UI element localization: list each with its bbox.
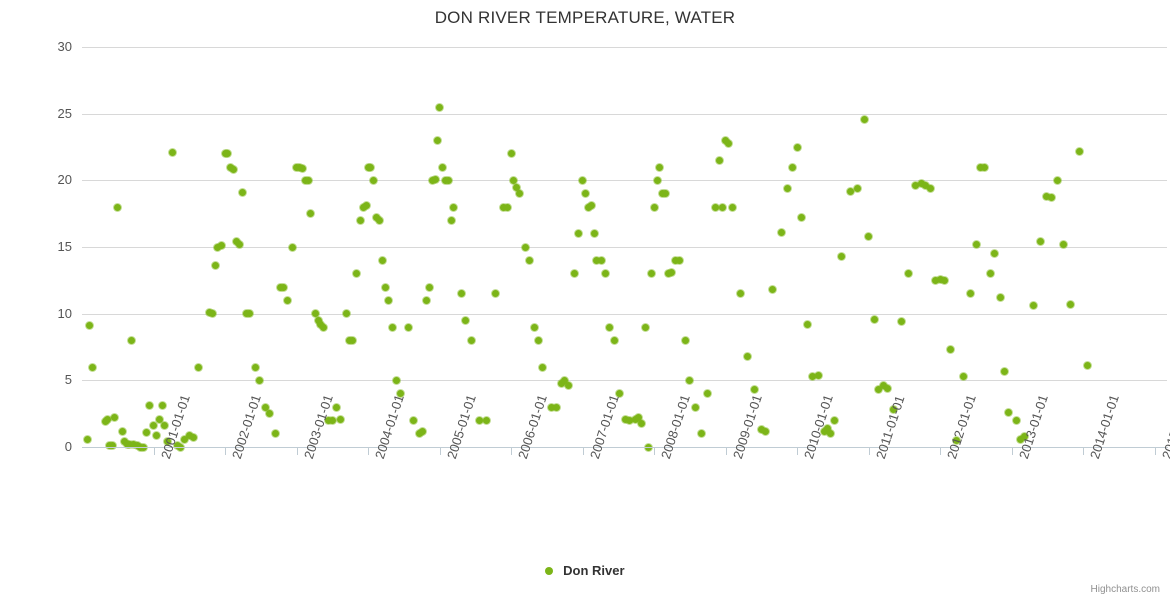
data-point[interactable]	[692, 404, 699, 411]
chart-legend: Don River	[0, 562, 1170, 578]
data-point[interactable]	[299, 165, 306, 172]
data-point[interactable]	[682, 337, 689, 344]
data-point[interactable]	[218, 242, 225, 249]
data-point[interactable]	[510, 177, 517, 184]
y-tick-label-10: 10	[32, 306, 72, 321]
data-point[interactable]	[794, 144, 801, 151]
data-point[interactable]	[804, 321, 811, 328]
data-point[interactable]	[239, 189, 246, 196]
data-point[interactable]	[405, 324, 412, 331]
data-point[interactable]	[987, 270, 994, 277]
data-point[interactable]	[651, 204, 658, 211]
data-point[interactable]	[827, 430, 834, 437]
y-tick-label-15: 15	[32, 239, 72, 254]
data-point[interactable]	[450, 204, 457, 211]
data-point[interactable]	[535, 337, 542, 344]
data-point[interactable]	[284, 297, 291, 304]
data-point[interactable]	[522, 244, 529, 251]
data-point[interactable]	[150, 422, 157, 429]
gridline-y-20	[82, 180, 1167, 181]
data-point[interactable]	[1060, 241, 1067, 248]
data-point[interactable]	[654, 177, 661, 184]
data-point[interactable]	[861, 116, 868, 123]
data-point[interactable]	[905, 270, 912, 277]
highcharts-container: DON RIVER TEMPERATURE, WATER Measurement…	[0, 0, 1170, 600]
data-point[interactable]	[531, 324, 538, 331]
x-tick-2014-01-01	[1083, 448, 1084, 455]
data-point[interactable]	[1076, 148, 1083, 155]
data-point[interactable]	[419, 428, 426, 435]
data-point[interactable]	[252, 364, 259, 371]
data-point[interactable]	[884, 385, 891, 392]
data-point[interactable]	[656, 164, 663, 171]
data-point[interactable]	[143, 429, 150, 436]
data-point[interactable]	[565, 382, 572, 389]
data-point[interactable]	[1005, 409, 1012, 416]
data-point[interactable]	[169, 149, 176, 156]
data-point[interactable]	[389, 324, 396, 331]
data-point[interactable]	[751, 386, 758, 393]
data-point[interactable]	[784, 185, 791, 192]
data-point[interactable]	[662, 190, 669, 197]
gridline-y-30	[82, 47, 1167, 48]
gridline-y-25	[82, 114, 1167, 115]
data-point[interactable]	[642, 324, 649, 331]
gridline-y-15	[82, 247, 1167, 248]
data-point[interactable]	[333, 404, 340, 411]
data-point[interactable]	[539, 364, 546, 371]
data-point[interactable]	[104, 416, 111, 423]
y-tick-label-25: 25	[32, 106, 72, 121]
data-point[interactable]	[86, 322, 93, 329]
data-point[interactable]	[704, 390, 711, 397]
x-tick-2008-01-01	[654, 448, 655, 455]
data-point[interactable]	[385, 297, 392, 304]
data-point[interactable]	[591, 230, 598, 237]
data-point[interactable]	[436, 104, 443, 111]
data-point[interactable]	[762, 428, 769, 435]
data-point[interactable]	[769, 286, 776, 293]
data-point[interactable]	[156, 416, 163, 423]
y-tick-label-0: 0	[32, 439, 72, 454]
data-point[interactable]	[991, 250, 998, 257]
x-tick-2001-01-01	[154, 448, 155, 455]
data-point[interactable]	[329, 417, 336, 424]
data-point[interactable]	[815, 372, 822, 379]
data-point[interactable]	[1054, 177, 1061, 184]
x-tick-2009-01-01	[726, 448, 727, 455]
x-tick-2004-01-01	[368, 448, 369, 455]
data-point[interactable]	[967, 290, 974, 297]
x-tick-2005-01-01	[440, 448, 441, 455]
data-point[interactable]	[445, 177, 452, 184]
data-point[interactable]	[588, 202, 595, 209]
highcharts-credits[interactable]: Highcharts.com	[1091, 584, 1160, 595]
legend-item-don-river[interactable]: Don River	[545, 562, 624, 578]
data-point[interactable]	[111, 414, 118, 421]
data-point[interactable]	[272, 430, 279, 437]
data-point[interactable]	[575, 230, 582, 237]
data-point[interactable]	[997, 294, 1004, 301]
data-point[interactable]	[353, 270, 360, 277]
data-point[interactable]	[492, 290, 499, 297]
data-point[interactable]	[648, 270, 655, 277]
data-point[interactable]	[363, 202, 370, 209]
data-point[interactable]	[379, 257, 386, 264]
data-point[interactable]	[84, 436, 91, 443]
data-point[interactable]	[146, 402, 153, 409]
x-tick-2007-01-01	[583, 448, 584, 455]
x-tick-2011-01-01	[869, 448, 870, 455]
data-point[interactable]	[236, 241, 243, 248]
y-tick-label-20: 20	[32, 172, 72, 187]
data-point[interactable]	[1037, 238, 1044, 245]
data-point[interactable]	[553, 404, 560, 411]
data-point[interactable]	[209, 310, 216, 317]
plot-area	[82, 47, 1167, 447]
data-point[interactable]	[611, 337, 618, 344]
data-point[interactable]	[357, 217, 364, 224]
data-point[interactable]	[1067, 301, 1074, 308]
x-tick-2013-01-01	[1012, 448, 1013, 455]
data-point[interactable]	[305, 177, 312, 184]
x-tick-2012-01-01	[940, 448, 941, 455]
chart-title: DON RIVER TEMPERATURE, WATER	[0, 8, 1170, 28]
data-point[interactable]	[1001, 368, 1008, 375]
data-point[interactable]	[393, 377, 400, 384]
data-point[interactable]	[798, 214, 805, 221]
data-point[interactable]	[716, 157, 723, 164]
data-point[interactable]	[190, 434, 197, 441]
data-point[interactable]	[432, 176, 439, 183]
data-point[interactable]	[871, 316, 878, 323]
data-point[interactable]	[458, 290, 465, 297]
data-point[interactable]	[280, 284, 287, 291]
data-point[interactable]	[571, 270, 578, 277]
data-point[interactable]	[89, 364, 96, 371]
data-point[interactable]	[898, 318, 905, 325]
data-point[interactable]	[941, 277, 948, 284]
data-point[interactable]	[370, 177, 377, 184]
data-point[interactable]	[606, 324, 613, 331]
data-point[interactable]	[712, 204, 719, 211]
data-point[interactable]	[212, 262, 219, 269]
legend-marker-icon	[545, 567, 553, 575]
data-point[interactable]	[343, 310, 350, 317]
data-point[interactable]	[423, 297, 430, 304]
data-point[interactable]	[668, 269, 675, 276]
data-point[interactable]	[638, 420, 645, 427]
data-point[interactable]	[698, 430, 705, 437]
data-point[interactable]	[789, 164, 796, 171]
data-point[interactable]	[153, 432, 160, 439]
data-point[interactable]	[508, 150, 515, 157]
x-tick-2006-01-01	[511, 448, 512, 455]
data-point[interactable]	[426, 284, 433, 291]
data-point[interactable]	[320, 324, 327, 331]
data-point[interactable]	[266, 410, 273, 417]
data-point[interactable]	[1013, 417, 1020, 424]
data-point[interactable]	[367, 164, 374, 171]
data-point[interactable]	[744, 353, 751, 360]
x-tick-2015-01-01	[1155, 448, 1156, 455]
data-point[interactable]	[847, 188, 854, 195]
data-point[interactable]	[947, 346, 954, 353]
data-point[interactable]	[439, 164, 446, 171]
legend-item-label: Don River	[563, 563, 624, 578]
data-point[interactable]	[973, 241, 980, 248]
data-point[interactable]	[719, 204, 726, 211]
data-point[interactable]	[582, 190, 589, 197]
data-point[interactable]	[526, 257, 533, 264]
data-point[interactable]	[838, 253, 845, 260]
y-tick-label-5: 5	[32, 372, 72, 387]
data-point[interactable]	[729, 204, 736, 211]
data-point[interactable]	[1084, 362, 1091, 369]
data-point[interactable]	[831, 417, 838, 424]
data-point[interactable]	[224, 150, 231, 157]
data-point[interactable]	[410, 417, 417, 424]
data-point[interactable]	[598, 257, 605, 264]
data-point[interactable]	[434, 137, 441, 144]
data-point[interactable]	[382, 284, 389, 291]
data-point[interactable]	[960, 373, 967, 380]
data-point[interactable]	[468, 337, 475, 344]
data-point[interactable]	[927, 185, 934, 192]
data-point[interactable]	[246, 310, 253, 317]
data-point[interactable]	[109, 442, 116, 449]
x-tick-2002-01-01	[225, 448, 226, 455]
data-point[interactable]	[128, 337, 135, 344]
data-point[interactable]	[516, 190, 523, 197]
data-point[interactable]	[119, 428, 126, 435]
data-point[interactable]	[579, 177, 586, 184]
data-point[interactable]	[676, 257, 683, 264]
data-point[interactable]	[1048, 194, 1055, 201]
data-point[interactable]	[981, 164, 988, 171]
data-point[interactable]	[778, 229, 785, 236]
gridline-y-5	[82, 380, 1167, 381]
y-tick-label-30: 30	[32, 39, 72, 54]
data-point[interactable]	[195, 364, 202, 371]
data-point[interactable]	[289, 244, 296, 251]
data-point[interactable]	[686, 377, 693, 384]
data-point[interactable]	[337, 416, 344, 423]
data-point[interactable]	[256, 377, 263, 384]
data-point[interactable]	[725, 140, 732, 147]
data-point[interactable]	[483, 417, 490, 424]
data-point[interactable]	[114, 204, 121, 211]
data-point[interactable]	[376, 217, 383, 224]
data-point[interactable]	[602, 270, 609, 277]
x-tick-2010-01-01	[797, 448, 798, 455]
data-point[interactable]	[349, 337, 356, 344]
data-point[interactable]	[1030, 302, 1037, 309]
y-axis-labels: 051015202530	[22, 47, 72, 447]
data-point[interactable]	[865, 233, 872, 240]
data-point[interactable]	[854, 185, 861, 192]
data-point[interactable]	[462, 317, 469, 324]
x-tick-2003-01-01	[297, 448, 298, 455]
data-point[interactable]	[230, 166, 237, 173]
data-point[interactable]	[159, 402, 166, 409]
data-point[interactable]	[476, 417, 483, 424]
data-point[interactable]	[504, 204, 511, 211]
data-point[interactable]	[448, 217, 455, 224]
data-point[interactable]	[307, 210, 314, 217]
data-point[interactable]	[737, 290, 744, 297]
